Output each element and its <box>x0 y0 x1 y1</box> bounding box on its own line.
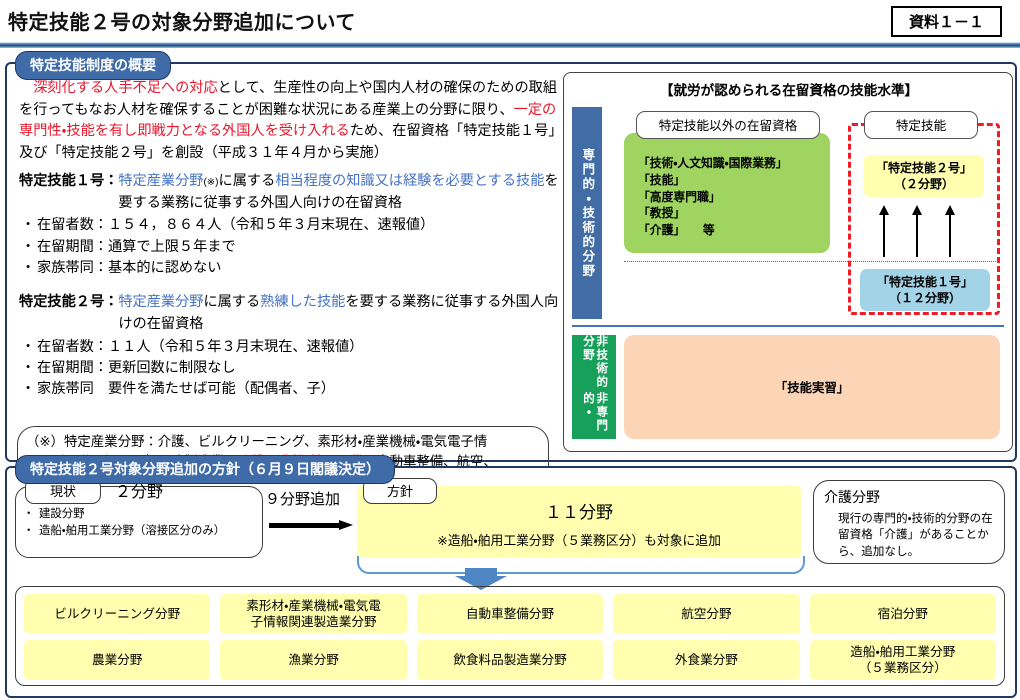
ssw1-definition: 特定技能１号： 特定産業分野(※)に属する相当程度の知識又は経験を必要とする技能… <box>19 171 559 214</box>
ssw2-bullet: 在留期間：更新回数に制限なし <box>19 358 559 379</box>
ssw2-definition: 特定技能２号： 特定産業分野に属する熟練した技能を要する業務に従事する外国人向け… <box>19 292 559 335</box>
diagram-title: 【就労が認められる在留資格の技能水準】 <box>564 79 1014 99</box>
overview-panel: 特定技能制度の概要 深刻化する人手不足への対応として、生産性の向上や国内人材の確… <box>5 62 1017 462</box>
ssw1-asterisk-ref: (※) <box>203 177 218 188</box>
ssw1-bullet: 家族帯同：基本的に認めない <box>19 258 559 279</box>
right-arrow-icon <box>269 520 355 530</box>
ssw2-definition-text: 特定産業分野に属する熟練した技能を要する業務に従事する外国人向けの在留資格 <box>118 292 559 335</box>
skill-level-dotted-divider <box>624 261 1000 262</box>
field-box: 漁業分野 <box>220 640 406 680</box>
policy-panel: 特定技能２号対象分野追加の方針（６月９日閣議決定） 現状 ２分野 建設分野 造船… <box>5 466 1017 698</box>
ssw2-blue-1: 特定産業分野 <box>118 294 203 310</box>
ssw1-bullet-list: 在留者数：１５４，８６４人（令和５年３月末現在、速報値） 在留期間：通算で上限５… <box>19 215 559 279</box>
tab-other-status: 特定技能以外の在留資格 <box>636 111 820 139</box>
field-box: 航空分野 <box>613 594 799 634</box>
page-title: 特定技能２号の対象分野追加について <box>8 6 356 35</box>
transition-label: ９分野追加 <box>265 488 340 509</box>
intro-paragraph: 深刻化する人手不足への対応として、生産性の向上や国内人材の確保のための取組を行っ… <box>19 78 559 164</box>
ssw1-bullet: 在留期間：通算で上限５年まで <box>19 237 559 258</box>
current-field-list: 建設分野 造船・舶用工業分野（溶接区分のみ） <box>21 506 249 540</box>
policy-brace <box>357 556 805 574</box>
ssw1-blue-1: 特定産業分野 <box>118 173 203 189</box>
field-box: 飲食料品製造業分野 <box>417 640 603 680</box>
upgrade-arrow-icon <box>879 205 889 257</box>
care-field-note-box: 介護分野 現行の専門的・技術的分野の在留資格「介護」があることから、追加なし。 <box>813 480 1005 564</box>
care-field-body: 現行の専門的・技術的分野の在留資格「介護」があることから、追加なし。 <box>824 511 994 560</box>
technical-intern-training-box: 「技能実習」 <box>624 335 1000 439</box>
overview-panel-title: 特定技能制度の概要 <box>15 51 171 80</box>
ssw1-box-line2: （１２分野） <box>860 290 990 306</box>
ssw2-bullet: 家族帯同 要件を満たせば可能（配偶者、子） <box>19 379 559 400</box>
title-divider <box>0 42 1020 48</box>
policy-note: ※造船・舶用工業分野（５業務区分）も対象に追加 <box>357 530 801 549</box>
ssw2-bullet: 在留者数：１１人（令和５年３月末現在、速報値） <box>19 337 559 358</box>
intro-red-lead: 深刻化する人手不足への対応 <box>33 80 217 96</box>
diagram-section-divider <box>572 325 1004 327</box>
added-fields-frame: ビルクリーニング分野 素形材・産業機械・電気電 子情報関連製造業分野 自動車整備… <box>15 586 1005 686</box>
ssw1-definition-text: 特定産業分野(※)に属する相当程度の知識又は経験を必要とする技能を要する業務に従… <box>118 171 559 214</box>
ssw2-label: 特定技能２号： <box>19 292 118 335</box>
ssw1-box-line1: 「特定技能１号」 <box>860 274 990 290</box>
other-status-list-box: 「技術・人文知識・国際業務」 「技能」 「高度専門職」 「教授」 「介護」 等 <box>624 133 830 253</box>
field-box: 農業分野 <box>24 640 210 680</box>
upgrade-arrow-icon <box>912 205 922 257</box>
upgrade-arrow-icon <box>945 205 955 257</box>
current-field-item: 建設分野 <box>21 506 249 523</box>
field-box: 外食業分野 <box>613 640 799 680</box>
document-number-badge: 資料１－１ <box>891 6 1002 37</box>
title-bar: 特定技能２号の対象分野追加について 資料１－１ <box>0 0 1020 44</box>
policy-panel-title: 特定技能２号対象分野追加の方針（６月９日閣議決定） <box>15 455 395 484</box>
footnote-line-1: （※）特定産業分野： 介護、ビルクリーニング、素形材・産業機械・電気電子情 <box>26 432 540 452</box>
nonprofessional-bar-col1: 非専門的・ <box>581 392 607 439</box>
field-box: 宿泊分野 <box>810 594 996 634</box>
professional-field-bar: 専門的・技術的分野 <box>572 107 602 319</box>
field-box: ビルクリーニング分野 <box>24 594 210 634</box>
overview-text-column: 深刻化する人手不足への対応として、生産性の向上や国内人材の確保のための取組を行っ… <box>19 78 559 400</box>
ssw2-mid: に属する <box>203 294 260 310</box>
footnote-line1-text: 介護、ビルクリーニング、素形材・産業機械・電気電子情 <box>158 432 488 452</box>
ssw1-box: 「特定技能１号」 （１２分野） <box>860 269 990 311</box>
ssw1-blue-2: 相当程度の知識又は経験を必要とする技能 <box>275 173 544 189</box>
tab-specified-skilled-worker: 特定技能 <box>864 111 978 139</box>
nonprofessional-field-bar: 非技術的分野 非専門的・ <box>572 335 616 439</box>
current-field-item: 造船・舶用工業分野（溶接区分のみ） <box>21 523 249 540</box>
field-box: 造船・舶用工業分野 （５業務区分） <box>810 640 996 680</box>
added-fields-grid: ビルクリーニング分野 素形材・産業機械・電気電 子情報関連製造業分野 自動車整備… <box>24 594 996 678</box>
nonprofessional-bar-col2: 非技術的分野 <box>581 335 607 392</box>
ssw2-blue-2: 熟練した技能 <box>260 294 345 310</box>
skill-level-diagram: 【就労が認められる在留資格の技能水準】 専門的・技術的分野 非技術的分野 非専門… <box>563 72 1013 452</box>
footnote-label: （※）特定産業分野： <box>26 432 158 452</box>
care-field-title: 介護分野 <box>824 487 994 507</box>
ssw2-box-line2: （２分野） <box>864 176 984 192</box>
ssw2-box: 「特定技能２号」 （２分野） <box>864 155 984 197</box>
ssw2-box-line1: 「特定技能２号」 <box>864 160 984 176</box>
ssw2-bullet-list: 在留者数：１１人（令和５年３月末現在、速報値） 在留期間：更新回数に制限なし 家… <box>19 337 559 401</box>
ssw1-bullet: 在留者数：１５４，８６４人（令和５年３月末現在、速報値） <box>19 215 559 236</box>
field-box: 自動車整備分野 <box>417 594 603 634</box>
field-box: 素形材・産業機械・電気電 子情報関連製造業分野 <box>220 594 406 634</box>
ssw1-mid: に属する <box>219 173 276 189</box>
ssw1-label: 特定技能１号： <box>19 171 118 214</box>
